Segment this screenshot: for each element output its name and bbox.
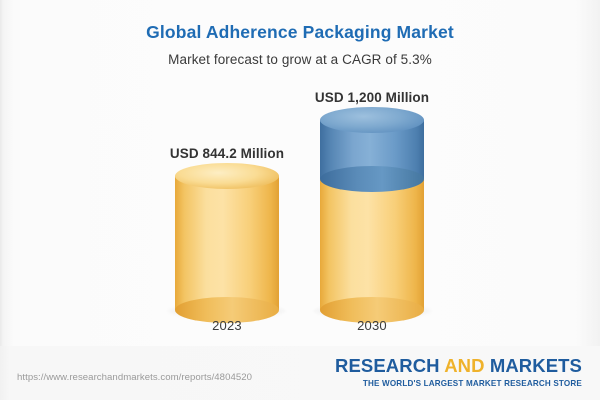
bar-segment-base-2023 [175, 176, 279, 310]
source-url[interactable]: https://www.researchandmarkets.com/repor… [17, 372, 252, 383]
logo-wordmark: RESEARCH AND MARKETS [335, 357, 582, 376]
bar-segment-divider-ellipse [320, 166, 424, 192]
logo-word-markets: MARKETS [485, 355, 582, 376]
category-label-2023: 2023 [175, 318, 279, 333]
brand-logo[interactable]: RESEARCH AND MARKETS THE WORLD'S LARGEST… [335, 357, 582, 388]
logo-word-research: RESEARCH [335, 355, 444, 376]
data-label-2030: USD 1,200 Million [290, 90, 454, 105]
bar-body [175, 176, 279, 310]
bar-segment-base-2030 [320, 179, 424, 310]
chart-card: Global Adherence Packaging Market Market… [0, 0, 600, 400]
logo-word-and: AND [444, 355, 484, 376]
bar-2023[interactable] [175, 176, 279, 310]
bar-2030[interactable] [320, 120, 424, 310]
bar-top-ellipse [175, 163, 279, 189]
bar-body [320, 179, 424, 310]
data-label-2023: USD 844.2 Million [145, 146, 309, 161]
bar-segment-growth-2030 [320, 120, 424, 179]
category-label-2030: 2030 [320, 318, 424, 333]
bar-top-ellipse [320, 107, 424, 133]
plot-area: USD 844.2 Million 2023 USD 1,200 Million… [0, 0, 600, 346]
logo-tagline: THE WORLD'S LARGEST MARKET RESEARCH STOR… [335, 380, 582, 388]
